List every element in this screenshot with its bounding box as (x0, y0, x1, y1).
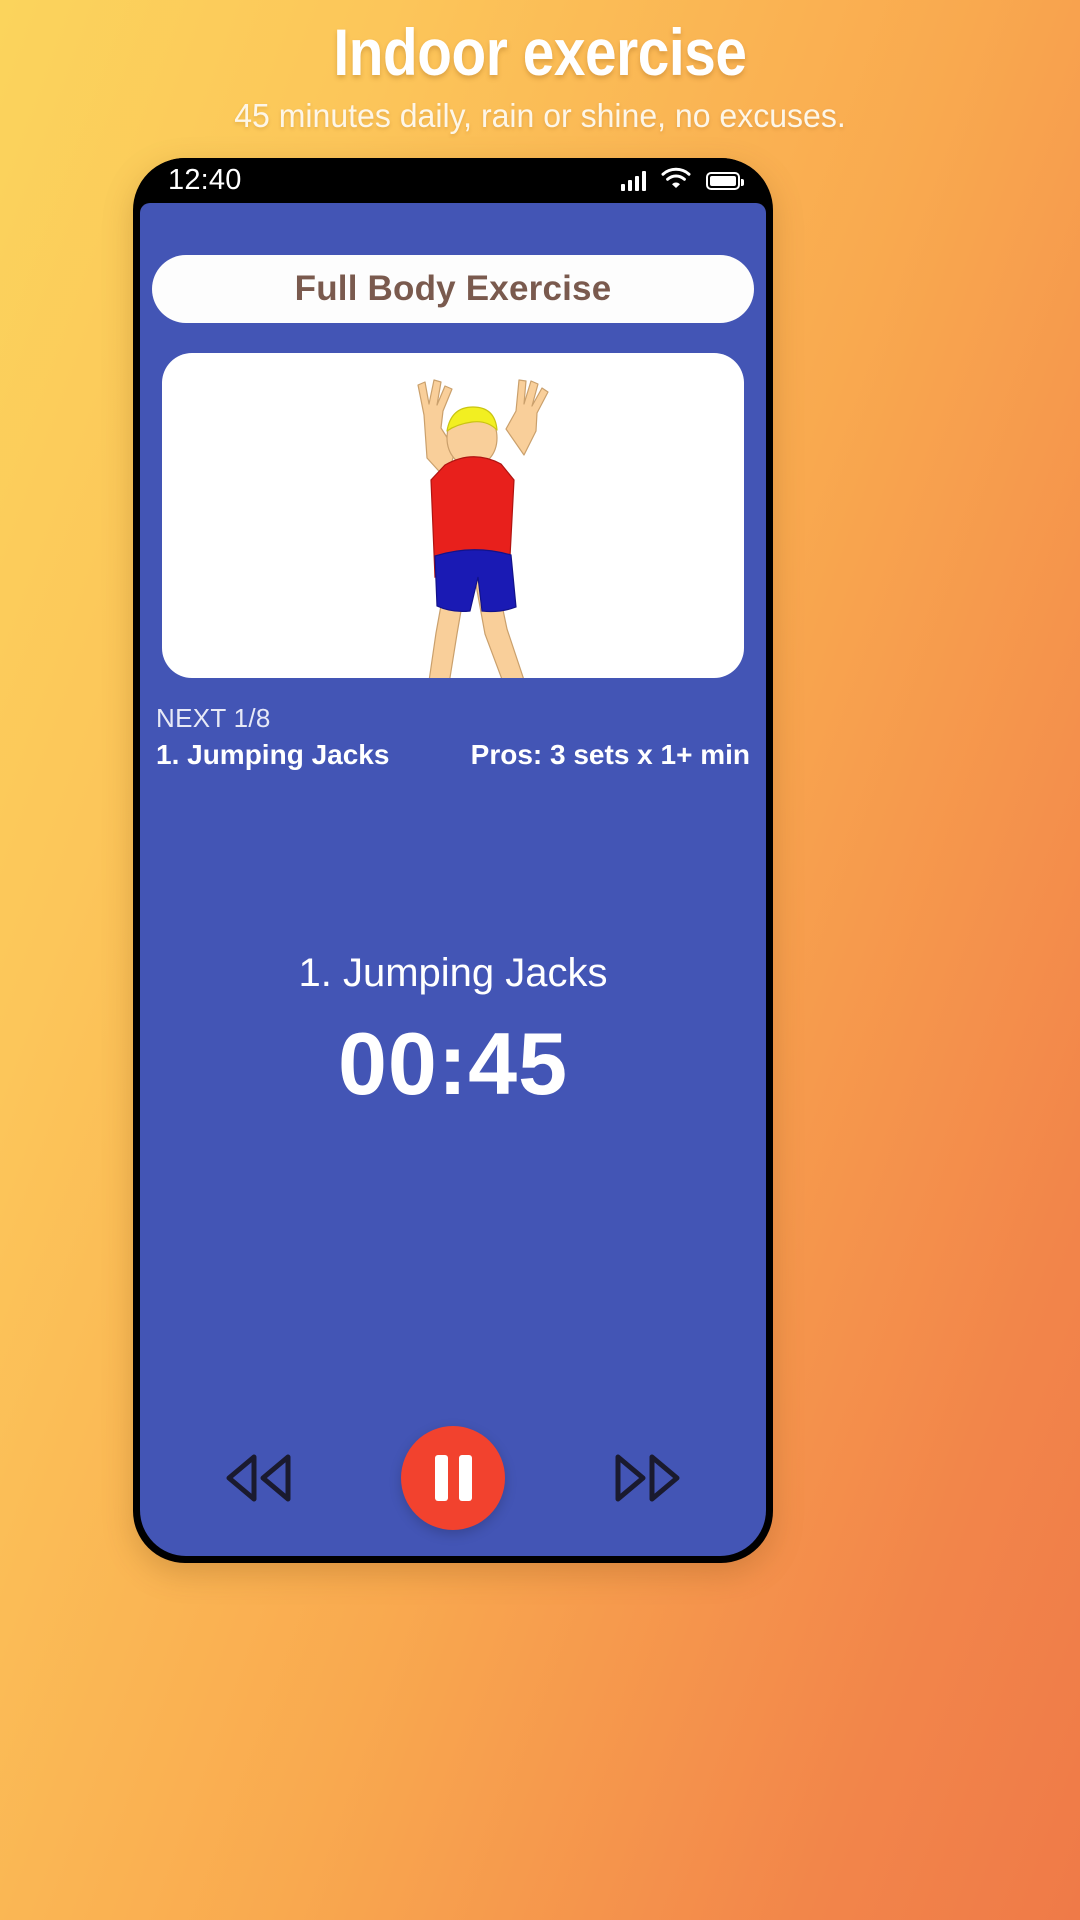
next-row: 1. Jumping Jacks Pros: 3 sets x 1+ min (156, 739, 750, 771)
status-time: 12:40 (168, 164, 242, 197)
rewind-icon (224, 1452, 298, 1504)
next-button[interactable] (605, 1445, 685, 1511)
battery-icon (706, 172, 740, 190)
app-screen: Full Body Exercise (140, 203, 766, 1556)
status-icons (621, 167, 741, 194)
fast-forward-icon (608, 1452, 682, 1504)
workout-header-card[interactable]: Full Body Exercise (152, 255, 754, 323)
page-title: Indoor exercise (76, 16, 1005, 89)
jumping-jacks-figure (162, 353, 744, 678)
wifi-icon (661, 167, 691, 194)
promo-header: Indoor exercise 45 minutes daily, rain o… (0, 0, 1080, 135)
pause-icon (435, 1455, 472, 1501)
previous-button[interactable] (221, 1445, 301, 1511)
workout-title: Full Body Exercise (295, 269, 612, 309)
countdown-timer: 00:45 (140, 1013, 766, 1115)
next-indicator: NEXT 1/8 (156, 703, 271, 734)
phone-mockup: 12:40 Full Body Exercise (133, 158, 773, 1563)
signal-icon (621, 171, 647, 191)
next-exercise-name: 1. Jumping Jacks (156, 739, 389, 771)
status-bar: 12:40 (140, 158, 766, 203)
next-exercise-pros: Pros: 3 sets x 1+ min (471, 739, 750, 771)
current-exercise-name: 1. Jumping Jacks (140, 951, 766, 996)
page-subtitle: 45 minutes daily, rain or shine, no excu… (16, 97, 1064, 135)
playback-controls (140, 1418, 766, 1538)
pause-button[interactable] (401, 1426, 505, 1530)
exercise-illustration-card (162, 353, 744, 678)
